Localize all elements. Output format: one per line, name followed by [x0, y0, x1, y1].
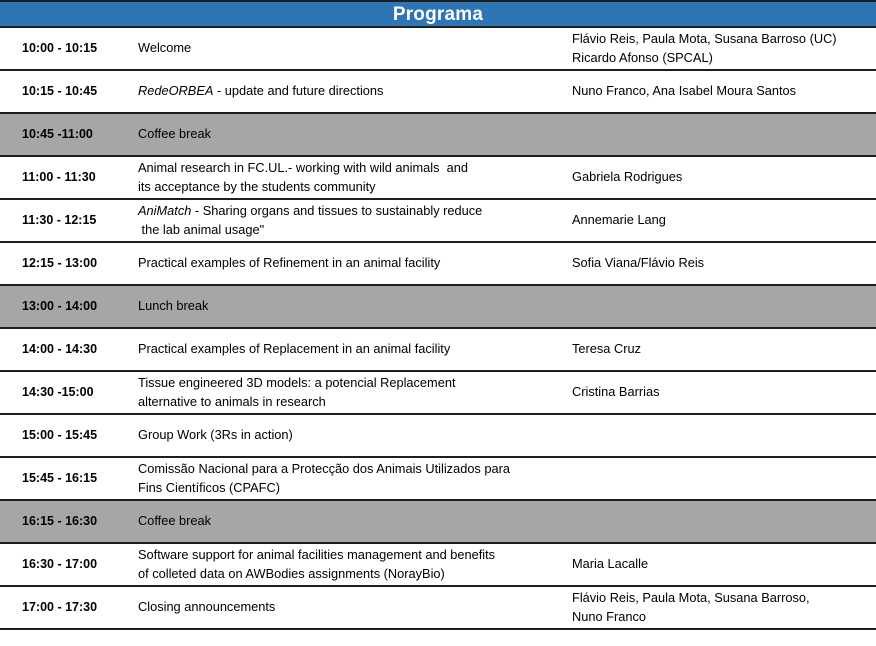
break-row: 13:00 - 14:00Lunch break	[0, 286, 876, 329]
session-speaker-line: Flávio Reis, Paula Mota, Susana Barroso …	[572, 30, 876, 49]
session-speaker-line: Cristina Barrias	[572, 383, 876, 402]
session-speakers: Maria Lacalle	[572, 555, 876, 574]
table-row: 17:00 - 17:30Closing announcementsFlávio…	[0, 587, 876, 630]
session-time: 16:15 - 16:30	[0, 513, 138, 530]
session-speakers: Teresa Cruz	[572, 340, 876, 359]
session-title-line: of colleted data on AWBodies assignments…	[138, 565, 562, 584]
table-row: 15:00 - 15:45Group Work (3Rs in action)	[0, 415, 876, 458]
session-speaker-line: Flávio Reis, Paula Mota, Susana Barroso,	[572, 589, 876, 608]
table-row: 16:30 - 17:00Software support for animal…	[0, 544, 876, 587]
session-time: 10:45 -11:00	[0, 126, 138, 143]
session-title-line: Closing announcements	[138, 598, 562, 617]
program-table-header: Programa	[0, 0, 876, 28]
session-speaker-line: Nuno Franco	[572, 608, 876, 627]
session-speaker-line: Ricardo Afonso (SPCAL)	[572, 49, 876, 68]
session-title: Practical examples of Refinement in an a…	[138, 254, 572, 273]
session-title-line: RedeORBEA - update and future directions	[138, 82, 562, 101]
session-title-line: Comissão Nacional para a Protecção dos A…	[138, 460, 562, 479]
session-title: Welcome	[138, 39, 572, 58]
session-time: 15:45 - 16:15	[0, 470, 138, 487]
session-title: Coffee break	[138, 125, 572, 144]
session-title: Comissão Nacional para a Protecção dos A…	[138, 460, 572, 497]
program-rows: 10:00 - 10:15WelcomeFlávio Reis, Paula M…	[0, 28, 876, 630]
session-title-line: AniMatch - Sharing organs and tissues to…	[138, 202, 562, 221]
session-time: 11:00 - 11:30	[0, 169, 138, 186]
session-title: Animal research in FC.UL.- working with …	[138, 159, 572, 196]
table-row: 10:00 - 10:15WelcomeFlávio Reis, Paula M…	[0, 28, 876, 71]
session-time: 14:00 - 14:30	[0, 341, 138, 358]
session-time: 14:30 -15:00	[0, 384, 138, 401]
session-speaker-line: Gabriela Rodrigues	[572, 168, 876, 187]
session-time: 15:00 - 15:45	[0, 427, 138, 444]
session-time: 17:00 - 17:30	[0, 599, 138, 616]
session-speakers: Cristina Barrias	[572, 383, 876, 402]
session-speakers: Sofia Viana/Flávio Reis	[572, 254, 876, 273]
session-title-line: Practical examples of Replacement in an …	[138, 340, 562, 359]
session-title-text: - update and future directions	[213, 83, 383, 98]
session-time: 10:00 - 10:15	[0, 40, 138, 57]
session-time: 13:00 - 14:00	[0, 298, 138, 315]
session-time: 11:30 - 12:15	[0, 212, 138, 229]
session-speaker-line: Maria Lacalle	[572, 555, 876, 574]
session-title-line: Tissue engineered 3D models: a potencial…	[138, 374, 562, 393]
table-row: 12:15 - 13:00Practical examples of Refin…	[0, 243, 876, 286]
session-speakers: Flávio Reis, Paula Mota, Susana Barroso,…	[572, 589, 876, 626]
session-speakers: Annemarie Lang	[572, 211, 876, 230]
table-row: 11:00 - 11:30Animal research in FC.UL.- …	[0, 157, 876, 200]
session-speakers: Flávio Reis, Paula Mota, Susana Barroso …	[572, 30, 876, 67]
session-title: Software support for animal facilities m…	[138, 546, 572, 583]
session-title-line: Fins Científicos (CPAFC)	[138, 479, 562, 498]
session-time: 16:30 - 17:00	[0, 556, 138, 573]
session-title: AniMatch - Sharing organs and tissues to…	[138, 202, 572, 239]
session-title-text: - Sharing organs and tissues to sustaina…	[191, 203, 482, 218]
session-title-line: Animal research in FC.UL.- working with …	[138, 159, 562, 178]
session-speaker-line: Teresa Cruz	[572, 340, 876, 359]
session-title-line: Software support for animal facilities m…	[138, 546, 562, 565]
session-title: Lunch break	[138, 297, 572, 316]
session-title: Group Work (3Rs in action)	[138, 426, 572, 445]
session-title-emphasis: AniMatch	[138, 203, 191, 218]
page-title: Programa	[393, 5, 483, 24]
table-row: 14:30 -15:00Tissue engineered 3D models:…	[0, 372, 876, 415]
session-title: Coffee break	[138, 512, 572, 531]
session-time: 12:15 - 13:00	[0, 255, 138, 272]
session-speaker-line: Sofia Viana/Flávio Reis	[572, 254, 876, 273]
session-title: Tissue engineered 3D models: a potencial…	[138, 374, 572, 411]
session-speaker-line: Nuno Franco, Ana Isabel Moura Santos	[572, 82, 876, 101]
session-title-line: its acceptance by the students community	[138, 178, 562, 197]
session-title: RedeORBEA - update and future directions	[138, 82, 572, 101]
table-row: 15:45 - 16:15Comissão Nacional para a Pr…	[0, 458, 876, 501]
session-speaker-line: Annemarie Lang	[572, 211, 876, 230]
session-title-line: alternative to animals in research	[138, 393, 562, 412]
session-time: 10:15 - 10:45	[0, 83, 138, 100]
session-title-line: Coffee break	[138, 125, 562, 144]
break-row: 10:45 -11:00Coffee break	[0, 114, 876, 157]
session-title: Closing announcements	[138, 598, 572, 617]
session-title-line: the lab animal usage"	[138, 221, 562, 240]
session-title-line: Practical examples of Refinement in an a…	[138, 254, 562, 273]
session-speakers: Nuno Franco, Ana Isabel Moura Santos	[572, 82, 876, 101]
program-table: Programa 10:00 - 10:15WelcomeFlávio Reis…	[0, 0, 876, 646]
session-title-line: Coffee break	[138, 512, 562, 531]
table-row: 10:15 - 10:45RedeORBEA - update and futu…	[0, 71, 876, 114]
table-row: 11:30 - 12:15AniMatch - Sharing organs a…	[0, 200, 876, 243]
session-title-line: Welcome	[138, 39, 562, 58]
session-title-line: Group Work (3Rs in action)	[138, 426, 562, 445]
break-row: 16:15 - 16:30Coffee break	[0, 501, 876, 544]
session-title-emphasis: RedeORBEA	[138, 83, 213, 98]
session-speakers: Gabriela Rodrigues	[572, 168, 876, 187]
table-row: 14:00 - 14:30Practical examples of Repla…	[0, 329, 876, 372]
session-title-line: Lunch break	[138, 297, 562, 316]
session-title: Practical examples of Replacement in an …	[138, 340, 572, 359]
